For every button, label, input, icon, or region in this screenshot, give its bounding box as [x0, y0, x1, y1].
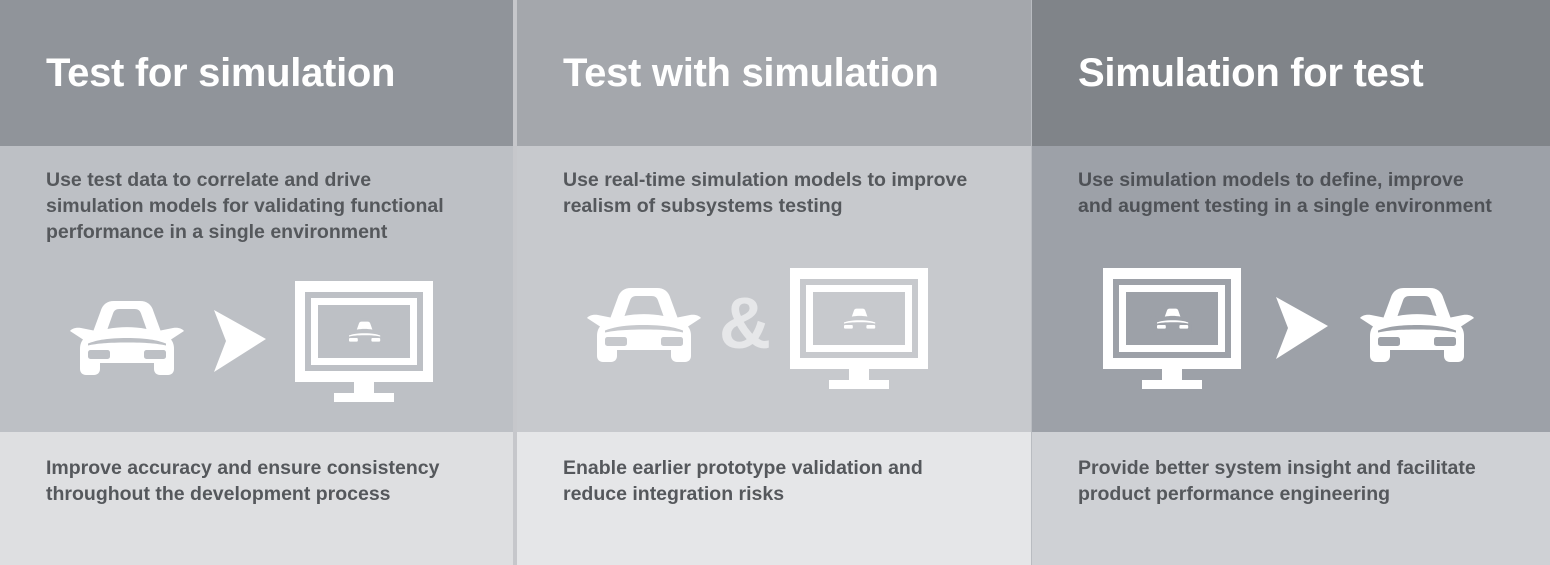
column-1-body: Use test data to correlate and drive sim… [0, 146, 513, 432]
column-1-footer: Improve accuracy and ensure consistency … [0, 432, 513, 565]
column-test-with-simulation: Test with simulation Use real-time simul… [517, 0, 1031, 565]
column-3-header: Simulation for test [1032, 0, 1550, 146]
three-column-infographic: Test for simulation Use test data to cor… [0, 0, 1550, 565]
page-title: Test with simulation [563, 52, 939, 94]
ampersand-symbol: & [703, 288, 787, 368]
monitor-with-car-icon [292, 278, 436, 404]
column-3-icon-row [1078, 224, 1504, 432]
column-3-body: Use simulation models to define, improve… [1032, 146, 1550, 432]
car-front-icon [1358, 282, 1476, 374]
column-test-for-simulation: Test for simulation Use test data to cor… [0, 0, 513, 565]
column-2-footer: Enable earlier prototype validation and … [517, 432, 1031, 565]
column-1-icon-row [46, 250, 467, 432]
page-title: Test for simulation [46, 52, 395, 94]
arrow-right-icon [208, 306, 270, 376]
monitor-with-car-icon [787, 265, 931, 391]
column-3-description: Use simulation models to define, improve… [1078, 168, 1498, 220]
column-3-outcome: Provide better system insight and facili… [1078, 456, 1504, 508]
column-3-footer: Provide better system insight and facili… [1032, 432, 1550, 565]
arrow-right-icon [1270, 293, 1332, 363]
monitor-with-car-icon [1100, 265, 1244, 391]
column-1-header: Test for simulation [0, 0, 513, 146]
column-1-description: Use test data to correlate and drive sim… [46, 168, 466, 246]
column-2-outcome: Enable earlier prototype validation and … [563, 456, 985, 508]
column-2-header: Test with simulation [517, 0, 1031, 146]
column-2-body: Use real-time simulation models to impro… [517, 146, 1031, 432]
column-2-description: Use real-time simulation models to impro… [563, 168, 983, 220]
page-title: Simulation for test [1078, 52, 1423, 94]
column-2-icon-row: & [563, 224, 985, 432]
car-front-icon [68, 295, 186, 387]
column-1-outcome: Improve accuracy and ensure consistency … [46, 456, 467, 508]
car-front-icon [585, 282, 703, 374]
column-simulation-for-test: Simulation for test Use simulation model… [1032, 0, 1550, 565]
